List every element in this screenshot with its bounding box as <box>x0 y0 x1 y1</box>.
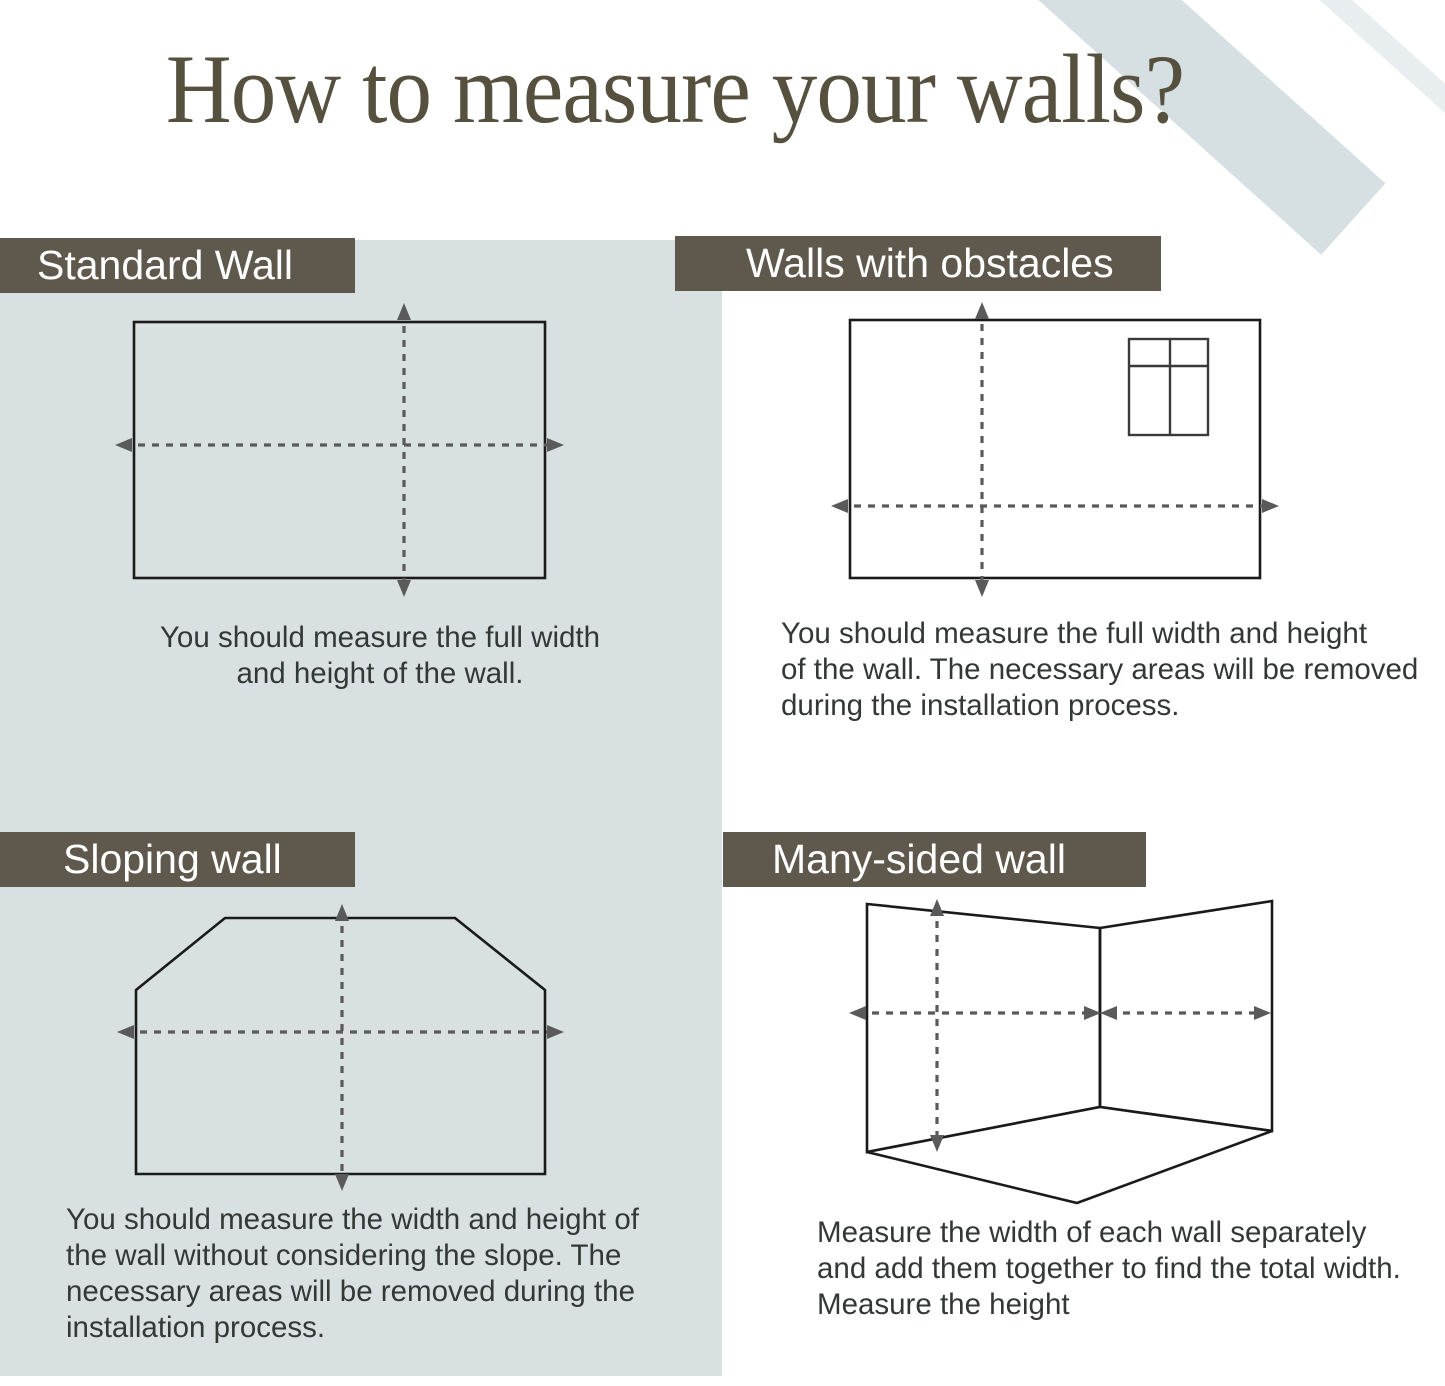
section-heading-label: Walls with obstacles <box>746 243 1114 284</box>
section-heading-standard-wall: Standard Wall <box>0 238 355 293</box>
diagram-standard-wall <box>90 300 590 600</box>
caption-sloping-wall: You should measure the width and height … <box>66 1202 666 1346</box>
caption-many-sided-wall: Measure the width of each wall separatel… <box>817 1215 1427 1323</box>
height-measure-arrow <box>335 904 349 1191</box>
height-measure-arrow <box>397 303 411 597</box>
section-heading-many-sided-wall: Many-sided wall <box>723 832 1146 887</box>
infographic-page: How to measure your walls? Standard Wall… <box>0 0 1445 1386</box>
caption-walls-with-obstacles: You should measure the full width and he… <box>781 616 1421 724</box>
diagram-many-sided-wall <box>830 885 1310 1215</box>
page-title: How to measure your walls? <box>54 30 1296 150</box>
section-heading-label: Standard Wall <box>37 245 293 286</box>
diagram-walls-with-obstacles <box>820 300 1300 600</box>
section-heading-label: Many-sided wall <box>772 839 1066 880</box>
caption-standard-wall: You should measure the full width and he… <box>120 620 640 692</box>
wall-outline <box>850 320 1260 578</box>
section-heading-label: Sloping wall <box>63 839 282 880</box>
section-heading-sloping-wall: Sloping wall <box>0 832 355 887</box>
right-wall <box>1100 901 1272 1131</box>
wall-outline <box>134 322 545 578</box>
diagram-sloping-wall <box>95 890 595 1195</box>
section-heading-walls-with-obstacles: Walls with obstacles <box>675 236 1161 291</box>
width-measure-arrow <box>115 438 564 452</box>
